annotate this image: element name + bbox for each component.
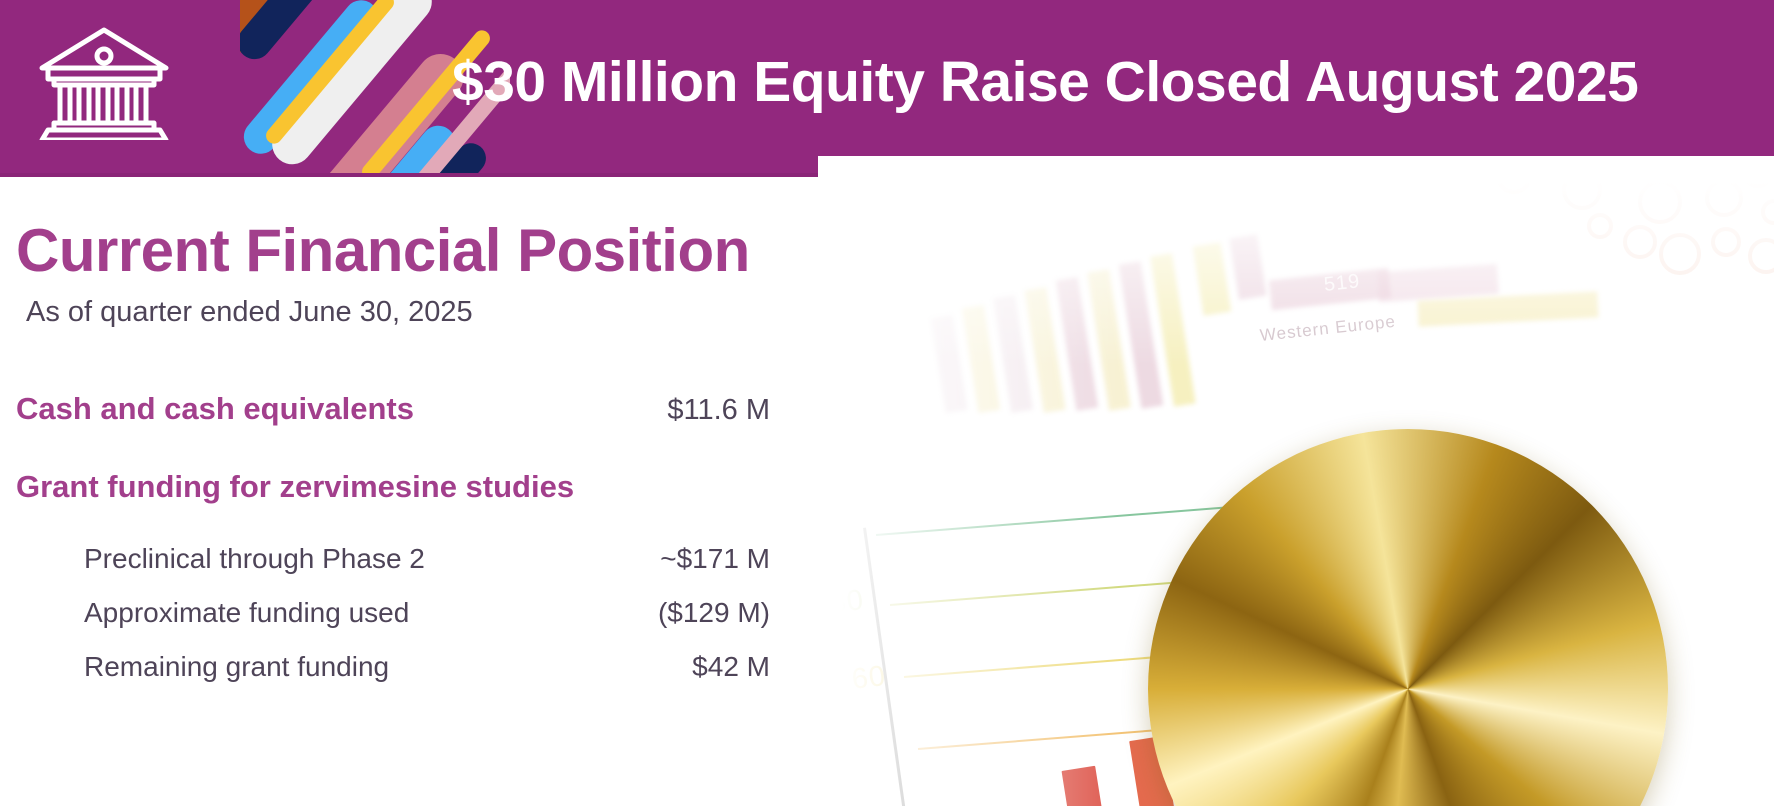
slide: $30 Million Equity Raise Closed August 2… bbox=[0, 0, 1774, 806]
row-label: Grant funding for zervimesine studies bbox=[0, 469, 574, 505]
row-value: $42 M bbox=[692, 651, 770, 683]
axis-tick-label-80: 80 bbox=[828, 584, 866, 621]
photo-chart-caption: Western Europe bbox=[1259, 312, 1397, 346]
row-cash-and-equivalents: Cash and cash equivalents $11.6 M bbox=[0, 391, 770, 427]
row-grant-funding: Grant funding for zervimesine studies bbox=[0, 469, 770, 505]
photo-chart-number: 519 bbox=[1323, 270, 1362, 297]
content-panel: Current Financial Position As of quarter… bbox=[0, 177, 818, 806]
row-label: Remaining grant funding bbox=[0, 651, 389, 683]
row-value: $11.6 M bbox=[667, 394, 770, 427]
row-label: Approximate funding used bbox=[0, 597, 409, 629]
row-value: ($129 M) bbox=[658, 597, 770, 629]
row-value: ~$171 M bbox=[660, 543, 770, 575]
magnifier-ring bbox=[1148, 429, 1668, 806]
row-remaining-grant-funding: Remaining grant funding $42 M bbox=[0, 651, 770, 683]
page-subtitle: As of quarter ended June 30, 2025 bbox=[26, 296, 473, 329]
magnifying-glass: Lending Deposits bbox=[1148, 429, 1668, 806]
header-banner: $30 Million Equity Raise Closed August 2… bbox=[0, 0, 1774, 177]
row-approximate-funding-used: Approximate funding used ($129 M) bbox=[0, 597, 770, 629]
financial-chart-photo: 519 Western Europe 00 80 60 bbox=[818, 156, 1774, 806]
row-label: Cash and cash equivalents bbox=[0, 391, 414, 427]
page-title: Current Financial Position bbox=[16, 216, 750, 285]
row-label: Preclinical through Phase 2 bbox=[0, 543, 425, 575]
photo-left-fade bbox=[818, 156, 1118, 806]
axis-tick-label-60: 60 bbox=[850, 660, 888, 697]
row-preclinical-through-phase-2: Preclinical through Phase 2 ~$171 M bbox=[0, 543, 770, 575]
header-title: $30 Million Equity Raise Closed August 2… bbox=[452, 38, 1772, 126]
bank-icon bbox=[34, 22, 174, 140]
axis-tick-label-100: 00 bbox=[818, 510, 846, 547]
